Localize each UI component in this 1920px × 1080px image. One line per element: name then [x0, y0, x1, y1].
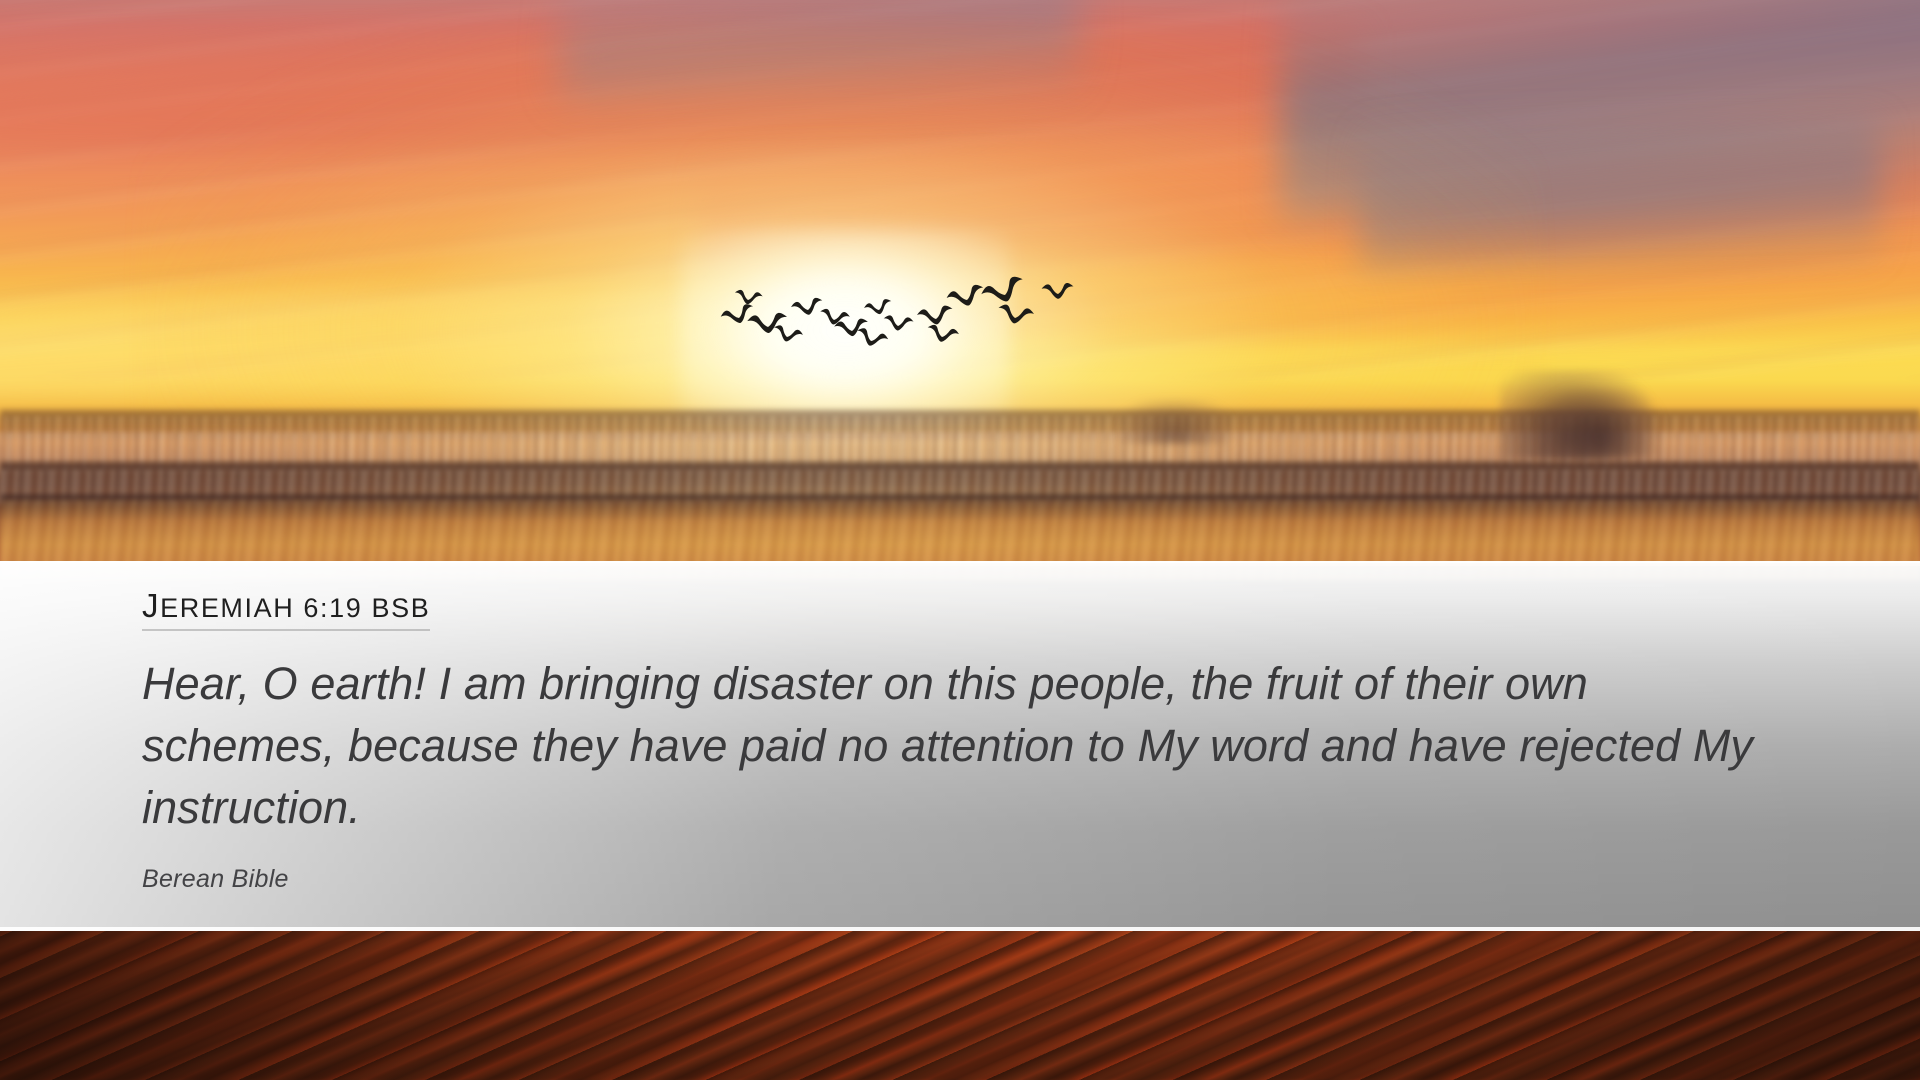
bird-10-icon [881, 313, 915, 339]
panel-bottom-divider [0, 927, 1920, 931]
bird-15-icon [994, 301, 1036, 334]
beach-shadow-right [1220, 931, 1920, 1080]
verse-content-block: JEREMIAH 6:19 BSB Hear, O earth! I am br… [142, 588, 1822, 894]
panel-top-divider [0, 561, 1920, 563]
verse-source-attribution: Berean Bible [142, 865, 1822, 894]
verse-body-text: Hear, O earth! I am bringing disaster on… [142, 653, 1762, 839]
verse-reference-rest: EREMIAH 6:19 BSB [160, 593, 430, 623]
verse-image-canvas: JEREMIAH 6:19 BSB Hear, O earth! I am br… [0, 0, 1920, 1080]
verse-reference-dropcap: J [142, 587, 160, 624]
beach-shadow-left [0, 931, 760, 1080]
bird-16-icon [1040, 281, 1075, 307]
verse-reference: JEREMIAH 6:19 BSB [142, 588, 430, 631]
bird-2-icon [732, 288, 764, 313]
bird-4-icon [769, 322, 805, 351]
bird-flock [0, 0, 1920, 566]
